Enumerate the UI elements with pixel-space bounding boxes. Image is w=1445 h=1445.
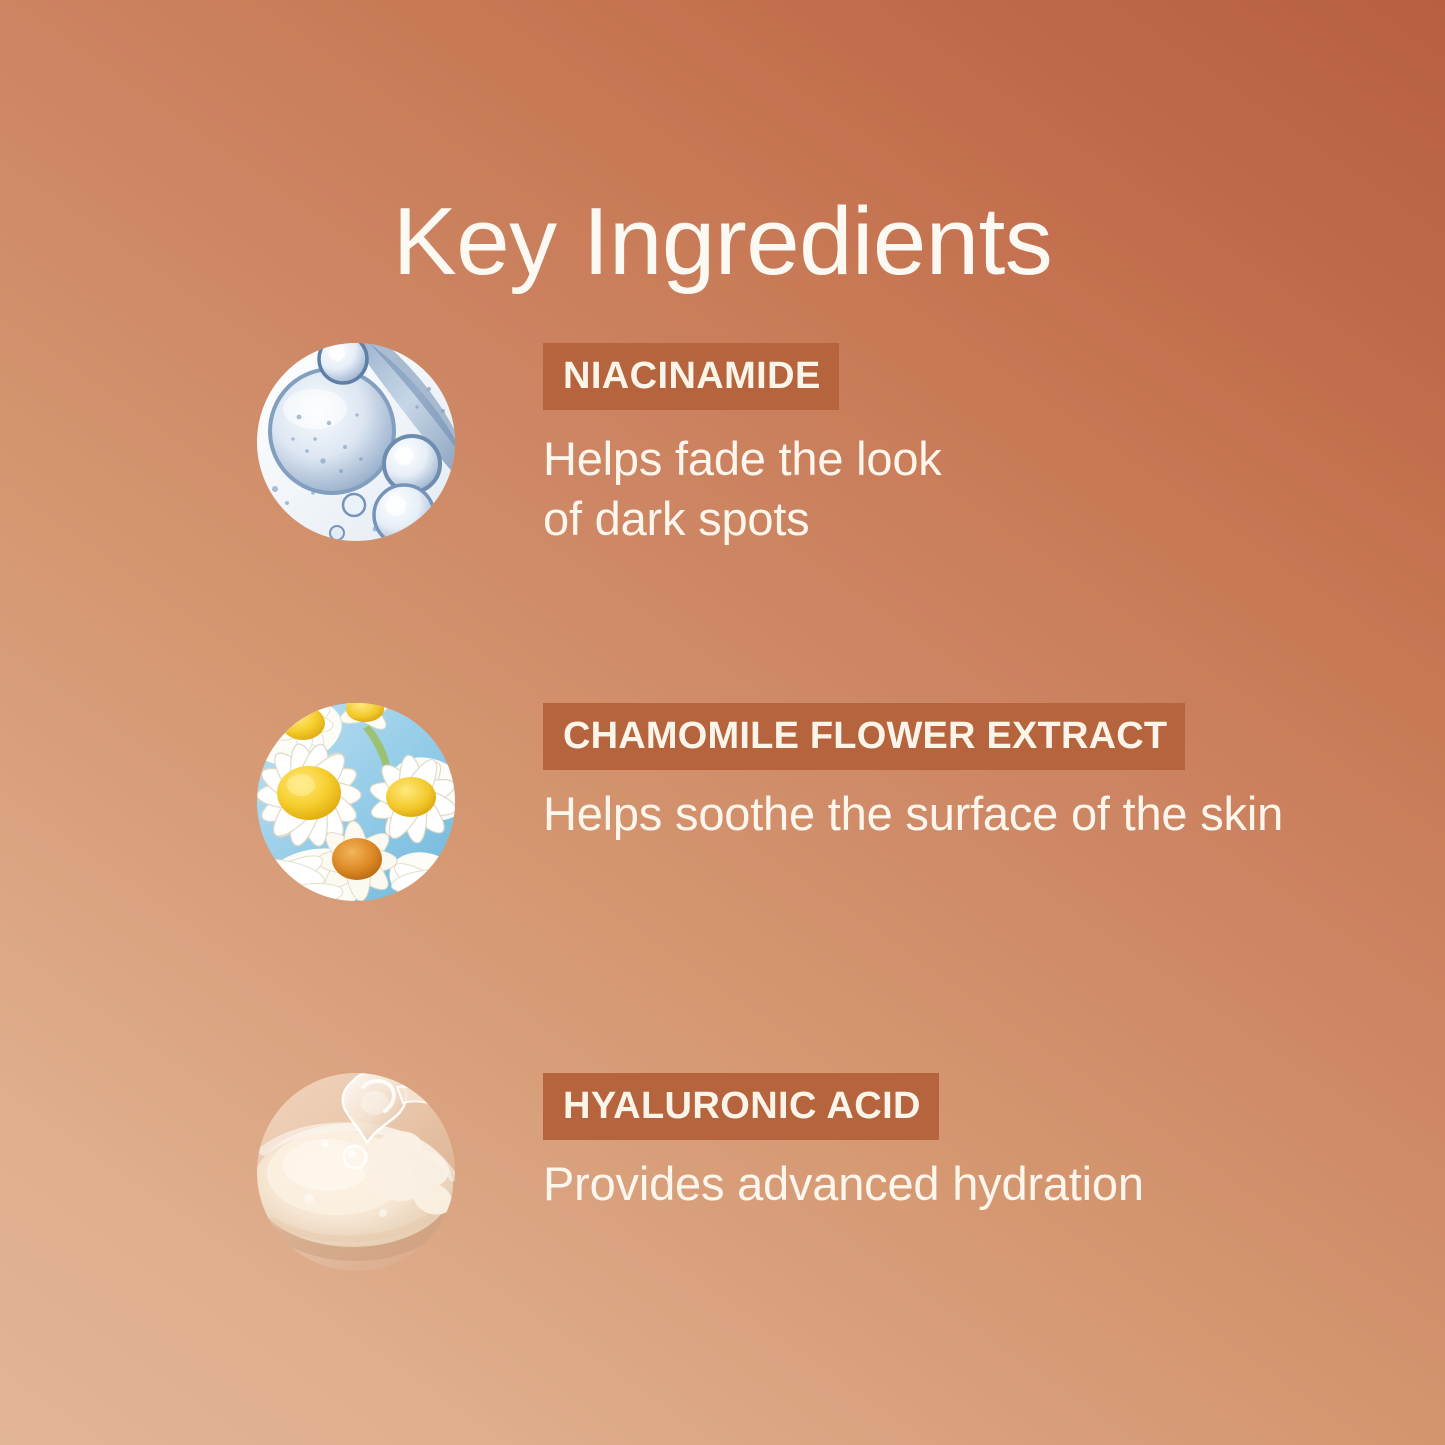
ingredient-name-badge: NIACINAMIDE: [543, 343, 839, 410]
ingredient-text-hyaluronic-acid: HYALURONIC ACID Provides advanced hydrat…: [543, 1073, 1403, 1214]
page-title: Key Ingredients: [393, 192, 1053, 293]
ingredient-image-chamomile: [257, 703, 455, 901]
ingredient-row-chamomile: CHAMOMILE FLOWER EXTRACT Helps soothe th…: [0, 703, 1445, 923]
ingredient-description: Helps fade the look of dark spots: [543, 429, 1403, 549]
ingredient-description: Provides advanced hydration: [543, 1154, 1403, 1214]
page-title-container: Key Ingredients: [0, 128, 1445, 357]
ingredient-name-badge: HYALURONIC ACID: [543, 1073, 939, 1140]
ingredient-text-niacinamide: NIACINAMIDE Helps fade the look of dark …: [543, 343, 1403, 549]
key-ingredients-poster: Key Ingredients: [0, 0, 1445, 1445]
ingredient-image-hyaluronic-acid: [257, 1073, 455, 1271]
ingredient-row-hyaluronic-acid: HYALURONIC ACID Provides advanced hydrat…: [0, 1073, 1445, 1293]
ingredient-name-badge: CHAMOMILE FLOWER EXTRACT: [543, 703, 1185, 770]
ingredient-image-niacinamide: [257, 343, 455, 541]
ingredient-text-chamomile: CHAMOMILE FLOWER EXTRACT Helps soothe th…: [543, 703, 1403, 844]
ingredient-description: Helps soothe the surface of the skin: [543, 784, 1403, 844]
ingredient-row-niacinamide: NIACINAMIDE Helps fade the look of dark …: [0, 343, 1445, 563]
